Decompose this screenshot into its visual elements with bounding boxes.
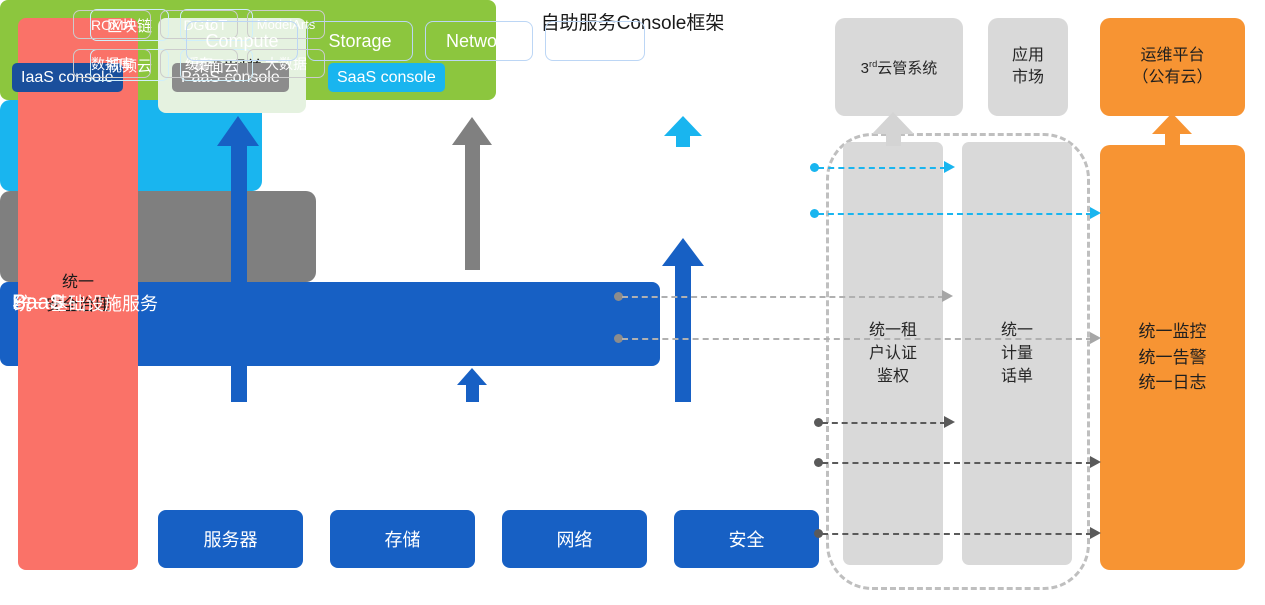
paas-service-database[interactable]: 数据库	[73, 49, 151, 78]
arrow-paas-to-console	[452, 117, 492, 270]
infra-box-network[interactable]: 网络	[502, 510, 647, 568]
auth-line3: 鉴权	[869, 365, 917, 388]
arrowhead-paas-to-ops	[1090, 332, 1101, 344]
paas-service-roma[interactable]: ROMA	[73, 10, 151, 39]
iaas-layer-label: 统一基础设施服务	[14, 290, 158, 316]
billing-line3: 话单	[1001, 365, 1033, 388]
app-market-line1: 应用	[1012, 45, 1044, 67]
ops-monitoring-panel[interactable]: 统一监控 统一告警 统一日志	[1100, 145, 1245, 570]
ops-platform-line2: （公有云）	[1132, 67, 1212, 89]
arrow-iaas-to-saas	[662, 238, 704, 402]
arrowhead-saas-to-ops	[1090, 207, 1101, 219]
third-party-cloud-mgmt-box[interactable]: 3rd云管系统	[835, 18, 963, 116]
arrowhead-iaas-to-auth	[944, 416, 955, 428]
unified-tenant-auth-column[interactable]: 统一租 户认证 鉴权	[843, 142, 943, 565]
arrowhead-infra-to-ops	[1090, 527, 1101, 539]
iaas-service-cce[interactable]: CCE	[545, 21, 645, 61]
ops-platform-box[interactable]: 运维平台 （公有云）	[1100, 18, 1245, 116]
app-market-line2: 市场	[1012, 67, 1044, 89]
ops-panel-line1: 统一监控	[1139, 319, 1207, 345]
arrowhead-saas-to-auth	[944, 161, 955, 173]
connector-saas-to-auth	[818, 167, 946, 169]
iaas-service-compute[interactable]: Compute	[186, 21, 298, 61]
infra-box-server[interactable]: 服务器	[158, 510, 303, 568]
arrowhead-iaas-to-ops	[1090, 456, 1101, 468]
iaas-service-storage[interactable]: Storage	[307, 21, 413, 61]
arrowhead-paas-to-auth	[942, 290, 953, 302]
ops-platform-line1: 运维平台	[1132, 45, 1212, 67]
billing-line2: 计量	[1001, 342, 1033, 365]
connector-iaas-to-auth	[822, 422, 946, 424]
connector-saas-to-ops	[818, 213, 1092, 215]
arrow-saas-to-saas-console	[664, 116, 702, 147]
arrow-ops-panel-to-ops-platform	[1152, 113, 1192, 148]
connector-paas-to-ops	[622, 338, 1092, 340]
app-market-box[interactable]: 应用 市场	[988, 18, 1068, 116]
connector-infra-to-ops	[822, 533, 1092, 535]
ops-panel-line2: 统一告警	[1139, 345, 1207, 371]
arrow-iaas-to-paas	[457, 368, 487, 402]
iaas-service-network[interactable]: Network	[425, 21, 533, 61]
infra-box-storage[interactable]: 存储	[330, 510, 475, 568]
architecture-diagram: 统一 安全治理 API网关 自助服务Console框架 IaaS console…	[0, 0, 1265, 605]
saas-console-chip[interactable]: SaaS console	[328, 63, 445, 92]
ops-panel-line3: 统一日志	[1139, 370, 1207, 396]
infra-box-security[interactable]: 安全	[674, 510, 819, 568]
third-party-label: 3rd云管系统	[861, 57, 938, 78]
auth-line2: 户认证	[869, 342, 917, 365]
connector-iaas-to-ops	[822, 462, 1092, 464]
connector-paas-to-auth	[622, 296, 944, 298]
unified-billing-column[interactable]: 统一 计量 话单	[962, 142, 1072, 565]
